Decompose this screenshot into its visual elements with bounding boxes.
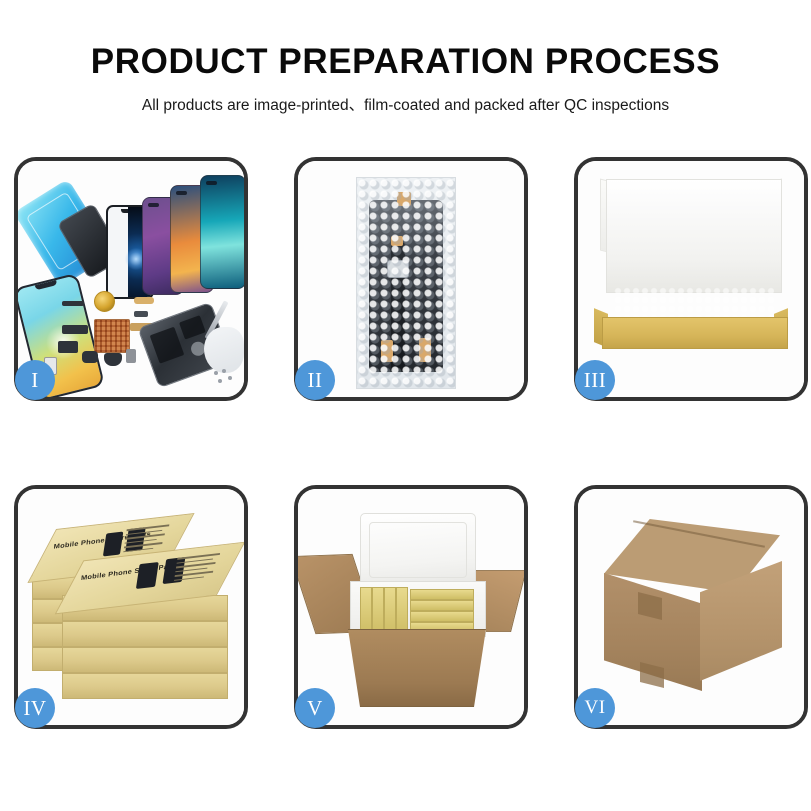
hand [204, 327, 244, 373]
screws [214, 369, 236, 385]
step-badge-3: III [575, 360, 615, 400]
gold-coil-part [94, 291, 115, 312]
step-badge-2: II [295, 360, 335, 400]
camera-icon [148, 203, 159, 207]
process-step-2: II [294, 157, 528, 401]
packed-retail-box [396, 587, 408, 633]
battery-connector [126, 349, 136, 363]
bubble-wrapped-screen [298, 161, 524, 397]
screw-mat [94, 319, 130, 353]
retail-box-slab [62, 647, 228, 673]
process-step-grid: I II [14, 157, 797, 729]
step-badge-1: I [15, 360, 55, 400]
retail-box-slab [62, 621, 228, 647]
flex-cable [58, 341, 78, 353]
camera-icon [176, 191, 187, 195]
step-6-image [578, 489, 804, 725]
box-artwork-screen [136, 562, 159, 589]
bubble-wrapped-contents [614, 287, 774, 319]
step-1-image [18, 161, 244, 397]
bubble-wrap-bag [356, 177, 456, 389]
speaker-component [104, 353, 122, 366]
process-step-6: VI [574, 485, 808, 729]
small-component [82, 351, 98, 363]
retail-box-slab [62, 673, 228, 699]
carton-with-foam-liner [298, 489, 524, 725]
sealed-shipping-carton [578, 489, 804, 725]
packed-retail-box [372, 587, 384, 633]
packed-retail-box [410, 589, 474, 600]
page-title: PRODUCT PREPARATION PROCESS [0, 44, 811, 81]
product-preparation-infographic: PRODUCT PREPARATION PROCESS All products… [0, 0, 811, 811]
carton-body [342, 629, 492, 707]
step-5-image [298, 489, 524, 725]
process-step-5: V [294, 485, 528, 729]
page-subtitle: All products are image-printed、film-coat… [0, 93, 811, 115]
box-tray-front [602, 317, 788, 349]
camera-icon [206, 181, 217, 185]
flex-cable [134, 297, 154, 304]
box-spec-lines [173, 553, 225, 591]
logic-board [179, 315, 206, 339]
step-2-image [298, 161, 524, 397]
box-artwork-screen [103, 532, 124, 557]
flex-cable [134, 311, 148, 317]
flex-cable [62, 301, 84, 306]
packed-retail-box [410, 611, 474, 622]
packed-retail-box [410, 600, 474, 611]
packed-retail-box [360, 587, 372, 633]
flex-cable [62, 325, 88, 334]
phone-parts-collage [18, 161, 244, 397]
step-badge-5: V [295, 688, 335, 728]
process-step-4: Mobile Phone Spare Parts Mobile Phone Sp… [14, 485, 248, 729]
process-step-1: I [14, 157, 248, 401]
box-lid-back [606, 179, 782, 293]
open-kraft-box [578, 161, 804, 397]
step-3-image [578, 161, 804, 397]
step-badge-4: IV [15, 688, 55, 728]
bubble-texture [357, 178, 455, 388]
foam-lid [360, 513, 476, 587]
header: PRODUCT PREPARATION PROCESS All products… [0, 0, 811, 115]
packed-retail-box [384, 587, 396, 633]
step-4-image: Mobile Phone Spare Parts Mobile Phone Sp… [18, 489, 244, 725]
step-badge-6: VI [575, 688, 615, 728]
process-step-3: III [574, 157, 808, 401]
battery [150, 327, 185, 364]
phone-teal [200, 175, 244, 289]
stacked-retail-boxes: Mobile Phone Spare Parts Mobile Phone Sp… [18, 489, 244, 725]
